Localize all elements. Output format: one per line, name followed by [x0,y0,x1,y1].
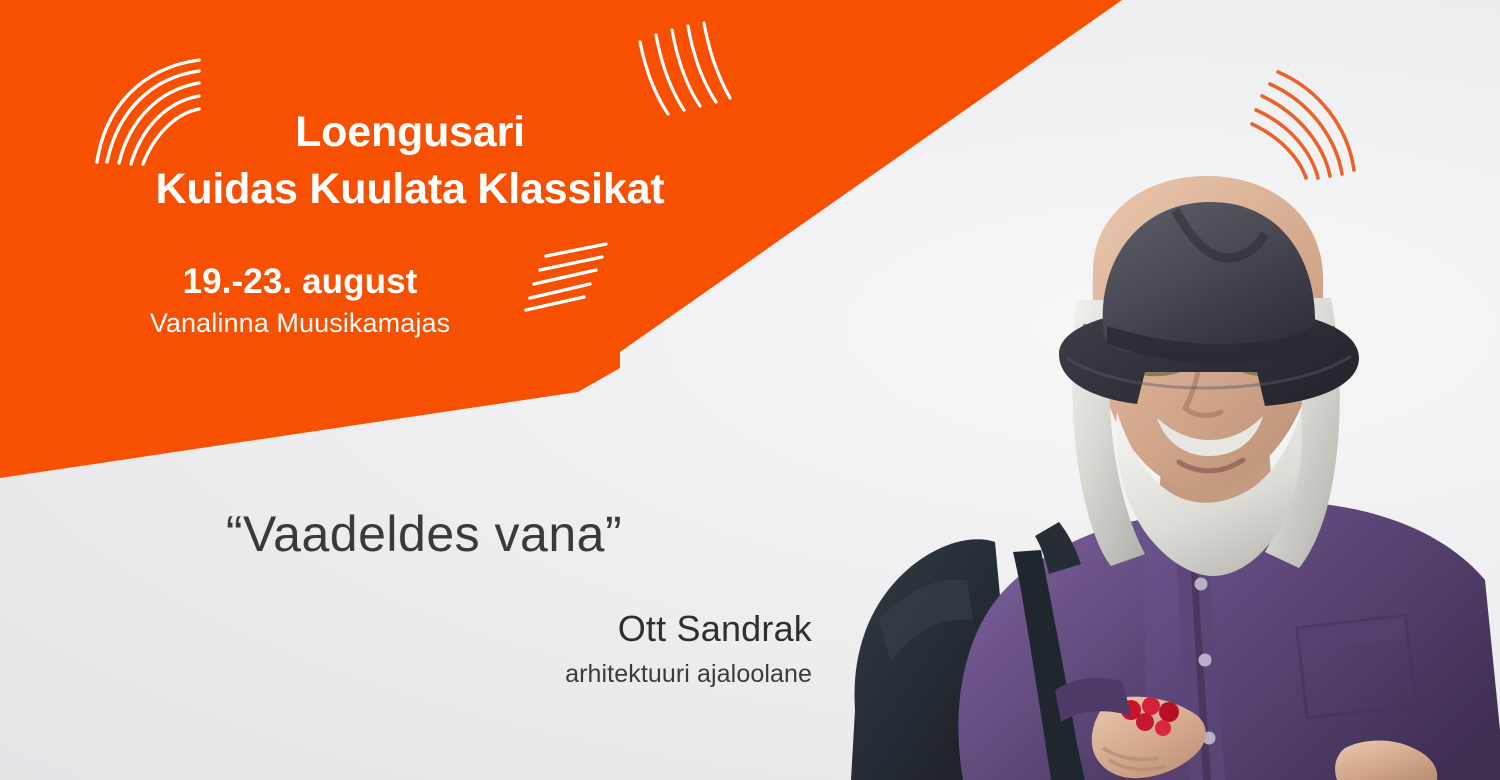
event-venue: Vanalinna Muusikamajas [0,308,860,339]
event-dates-text: 19.-23. august [183,262,418,302]
headline: Loengusari Kuidas Kuulata Klassikat [0,104,860,218]
lecture-title-quote: “Vaadeldes vana” [0,505,860,563]
event-venue-text: Vanalinna Muusikamajas [150,308,450,339]
event-poster: Loengusari Kuidas Kuulata Klassikat 19.-… [0,0,1500,780]
portrait-photo [845,150,1500,780]
speaker-role: arhitektuuri ajaloolane [0,660,860,689]
headline-line-1: Loengusari [0,104,820,161]
headline-line-2: Kuidas Kuulata Klassikat [0,161,820,218]
event-dates: 19.-23. august [0,262,860,302]
speaker-name: Ott Sandrak [0,608,860,650]
